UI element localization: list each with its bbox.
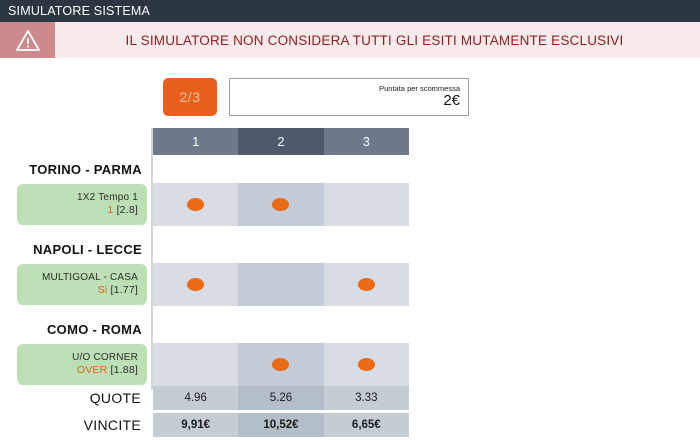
winnings-value-1: 9,91€ bbox=[153, 413, 238, 437]
odds-value-3: 3.33 bbox=[324, 386, 409, 410]
match-title-cell-2 bbox=[238, 235, 323, 263]
warning-triangle-icon bbox=[15, 29, 41, 52]
selection-outcome-name: 1 bbox=[107, 204, 113, 216]
match-title-cell-3 bbox=[324, 155, 409, 183]
selection-chip[interactable]: MULTIGOAL - CASA Si [1.77] bbox=[17, 264, 147, 305]
selection-row: 1X2 Tempo 1 1 [2.8] bbox=[0, 183, 409, 226]
selected-dot-icon bbox=[272, 198, 289, 211]
warning-icon-container bbox=[0, 22, 55, 58]
column-header-2[interactable]: 2 bbox=[238, 128, 323, 155]
column-header-1[interactable]: 1 bbox=[153, 128, 238, 155]
winnings-summary-row: VINCITE 9,91€ 10,52€ 6,65€ bbox=[0, 413, 409, 437]
selection-row: MULTIGOAL - CASA Si [1.77] bbox=[0, 263, 409, 306]
warning-message: IL SIMULATORE NON CONSIDERA TUTTI GLI ES… bbox=[126, 33, 630, 48]
selection-cell-2[interactable] bbox=[238, 343, 323, 386]
simulator-page: SIMULATORE SISTEMA IL SIMULATORE NON CON… bbox=[0, 0, 700, 440]
selection-market: MULTIGOAL - CASA bbox=[42, 272, 138, 285]
match-title-row: NAPOLI - LECCE bbox=[0, 235, 409, 263]
odds-value-1: 4.96 bbox=[153, 386, 238, 410]
row-spacer bbox=[0, 226, 409, 235]
odds-summary-label: QUOTE bbox=[90, 390, 147, 406]
match-title-row: COMO - ROMA bbox=[0, 315, 409, 343]
match-title-cell-2 bbox=[238, 155, 323, 183]
selection-cell-2[interactable] bbox=[238, 183, 323, 226]
odds-value-2: 5.26 bbox=[238, 386, 323, 410]
selection-outcome: 1 [2.8] bbox=[107, 204, 138, 217]
column-header-3[interactable]: 3 bbox=[324, 128, 409, 155]
selected-dot-icon bbox=[187, 278, 204, 291]
row-spacer bbox=[0, 306, 409, 315]
selected-dot-icon bbox=[358, 278, 375, 291]
stake-per-bet-value: 2€ bbox=[443, 93, 460, 110]
match-title-cell-3 bbox=[324, 235, 409, 263]
selection-outcome: OVER [1.88] bbox=[77, 364, 138, 377]
match-title-cell-3 bbox=[324, 315, 409, 343]
odds-summary-row: QUOTE 4.96 5.26 3.33 bbox=[0, 386, 409, 410]
combination-badge[interactable]: 2/3 bbox=[163, 78, 217, 116]
match-title: NAPOLI - LECCE bbox=[33, 242, 147, 257]
window-titlebar: SIMULATORE SISTEMA bbox=[0, 0, 700, 22]
selection-cell-3[interactable] bbox=[324, 183, 409, 226]
window-title: SIMULATORE SISTEMA bbox=[0, 4, 150, 18]
selected-dot-icon bbox=[358, 358, 375, 371]
match-title-cell-1 bbox=[153, 315, 238, 343]
selection-outcome-name: Si bbox=[98, 284, 108, 296]
winnings-value-3: 6,65€ bbox=[324, 413, 409, 437]
match-title: TORINO - PARMA bbox=[29, 162, 147, 177]
match-title-cell-1 bbox=[153, 155, 238, 183]
selection-cell-1[interactable] bbox=[153, 183, 238, 226]
match-title: COMO - ROMA bbox=[47, 322, 147, 337]
stake-bar: 2/3 Puntata per scommessa 2€ bbox=[163, 78, 469, 116]
selection-row: U/O CORNER OVER [1.88] bbox=[0, 343, 409, 386]
match-title-cell-2 bbox=[238, 315, 323, 343]
selection-chip[interactable]: U/O CORNER OVER [1.88] bbox=[17, 344, 147, 385]
winnings-summary-label: VINCITE bbox=[84, 417, 147, 433]
warning-banner: IL SIMULATORE NON CONSIDERA TUTTI GLI ES… bbox=[0, 22, 700, 58]
match-title-row: TORINO - PARMA bbox=[0, 155, 409, 183]
selection-odd: [2.8] bbox=[117, 204, 138, 216]
selected-dot-icon bbox=[187, 198, 204, 211]
grid-header-label-spacer bbox=[0, 128, 147, 155]
match-title-cell-1 bbox=[153, 235, 238, 263]
winnings-value-2: 10,52€ bbox=[238, 413, 323, 437]
selection-cell-3[interactable] bbox=[324, 343, 409, 386]
system-grid: 1 2 3 TORINO - PARMA 1X2 Tempo 1 1 bbox=[0, 128, 420, 437]
selection-chip[interactable]: 1X2 Tempo 1 1 [2.8] bbox=[17, 184, 147, 225]
selection-cell-1[interactable] bbox=[153, 343, 238, 386]
selection-odd: [1.88] bbox=[111, 364, 138, 376]
selection-odd: [1.77] bbox=[111, 284, 138, 296]
selected-dot-icon bbox=[272, 358, 289, 371]
selection-outcome-name: OVER bbox=[77, 364, 108, 376]
selection-outcome: Si [1.77] bbox=[98, 284, 138, 297]
selection-cell-2[interactable] bbox=[238, 263, 323, 306]
selection-cell-1[interactable] bbox=[153, 263, 238, 306]
selection-cell-3[interactable] bbox=[324, 263, 409, 306]
grid-header-row: 1 2 3 bbox=[0, 128, 409, 155]
warning-message-container: IL SIMULATORE NON CONSIDERA TUTTI GLI ES… bbox=[55, 22, 700, 58]
stake-per-bet-box[interactable]: Puntata per scommessa 2€ bbox=[229, 78, 469, 116]
selection-market: 1X2 Tempo 1 bbox=[77, 192, 138, 205]
selection-market: U/O CORNER bbox=[72, 352, 138, 365]
